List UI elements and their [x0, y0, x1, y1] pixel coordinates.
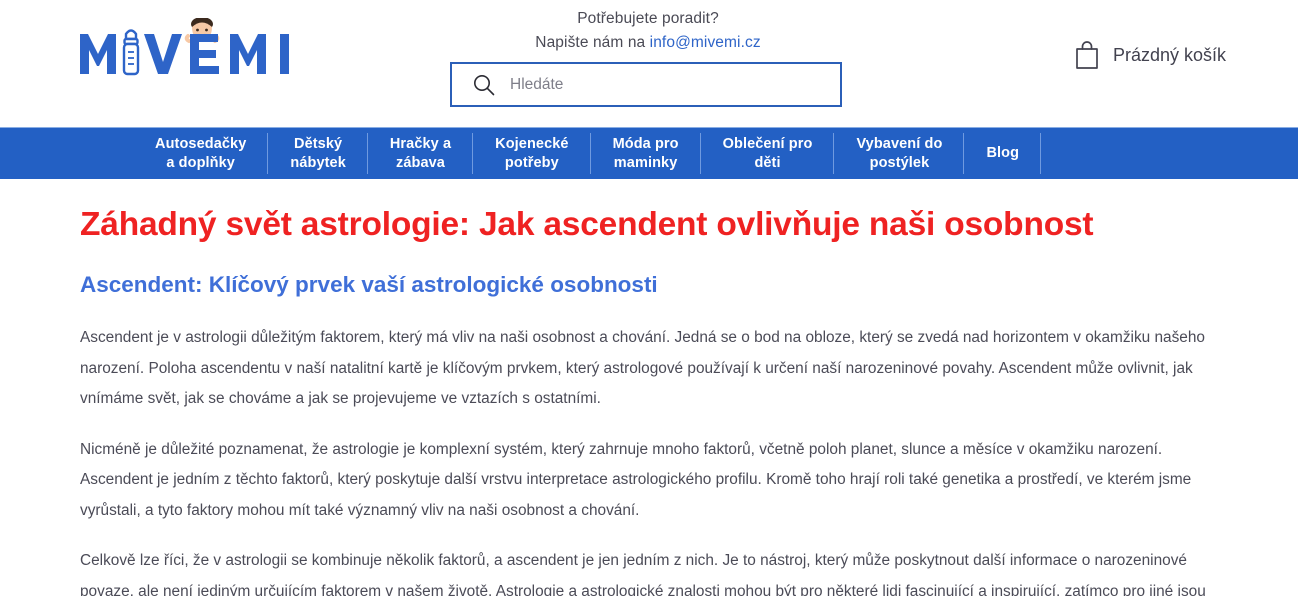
nav-empty-space — [1041, 128, 1298, 179]
search-bar[interactable] — [450, 62, 842, 107]
article-subtitle: Ascendent: Klíčový prvek vaší astrologic… — [80, 271, 1218, 299]
contact-question: Potřebujete poradit? — [450, 8, 846, 30]
nav-item-moda-pro-maminky[interactable]: Móda pro maminky — [591, 128, 701, 179]
main-navigation: Autosedačky a doplňky Dětský nábytek Hra… — [0, 127, 1298, 179]
nav-item-obleceni-pro-deti[interactable]: Oblečení pro děti — [701, 128, 835, 179]
article-content: Záhadný svět astrologie: Jak ascendent o… — [0, 179, 1298, 596]
nav-item-vybaveni-do-postylek[interactable]: Vybavení do postýlek — [834, 128, 964, 179]
search-icon — [472, 73, 496, 97]
baby-bottle-icon — [124, 31, 138, 75]
cart-label: Prázdný košík — [1113, 45, 1226, 66]
article-paragraph: Celkově lze říci, že v astrologii se kom… — [80, 546, 1216, 596]
site-header: Potřebujete poradit? Napište nám na info… — [0, 0, 1298, 127]
cart-widget[interactable]: Prázdný košík — [1074, 40, 1226, 70]
contact-info: Potřebujete poradit? Napište nám na info… — [450, 8, 846, 55]
site-logo[interactable] — [78, 18, 328, 84]
nav-item-kojenecke-potreby[interactable]: Kojenecké potřeby — [473, 128, 590, 179]
contact-email-line: Napište nám na info@mivemi.cz — [450, 32, 846, 54]
contact-email-prefix: Napište nám na — [535, 34, 649, 51]
page-title: Záhadný svět astrologie: Jak ascendent o… — [80, 205, 1218, 245]
article-paragraph: Nicméně je důležité poznamenat, že astro… — [80, 435, 1216, 527]
nav-item-hracky-zabava[interactable]: Hračky a zábava — [368, 128, 473, 179]
search-input[interactable] — [510, 64, 828, 105]
article-paragraph: Ascendent je v astrologii důležitým fakt… — [80, 323, 1216, 415]
nav-item-blog[interactable]: Blog — [964, 128, 1041, 179]
page-root: Potřebujete poradit? Napište nám na info… — [0, 0, 1298, 596]
nav-item-autosedacky[interactable]: Autosedačky a doplňky — [133, 128, 268, 179]
shopping-bag-icon — [1074, 40, 1100, 70]
contact-email-link[interactable]: info@mivemi.cz — [650, 34, 761, 51]
nav-item-detsky-nabytek[interactable]: Dětský nábytek — [268, 128, 368, 179]
article-body: Ascendent je v astrologii důležitým fakt… — [80, 323, 1218, 596]
